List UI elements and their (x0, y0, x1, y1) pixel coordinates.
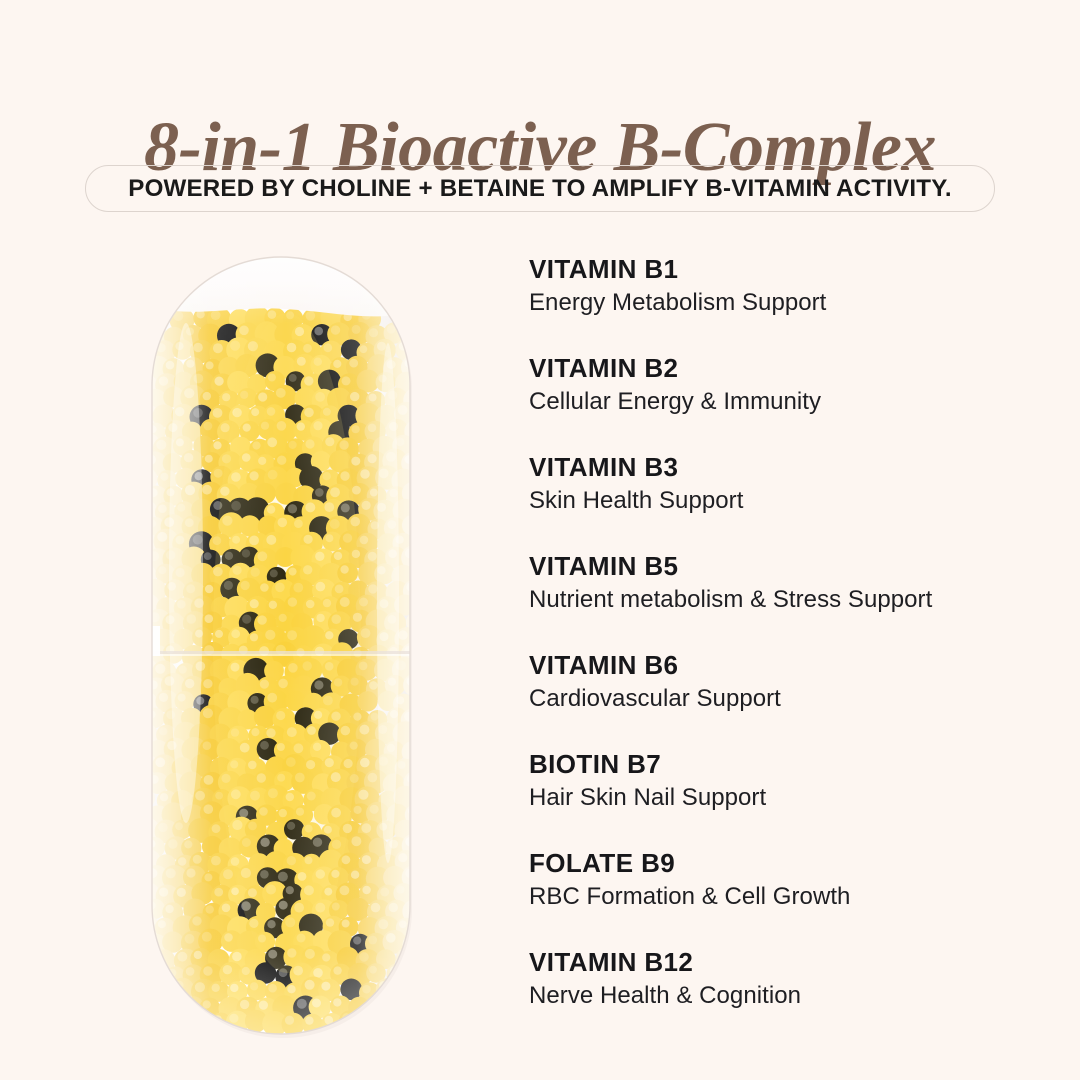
capsule-glass-highlight (138, 243, 434, 1048)
vitamin-item: VITAMIN B1 Energy Metabolism Support (529, 256, 1049, 355)
vitamin-description: Nerve Health & Cognition (529, 984, 1049, 1008)
vitamin-name: VITAMIN B2 (529, 355, 1049, 381)
vitamin-item: VITAMIN B6 Cardiovascular Support (529, 652, 1049, 751)
vitamin-description: Cardiovascular Support (529, 687, 1049, 711)
vitamin-item: FOLATE B9 RBC Formation & Cell Growth (529, 850, 1049, 949)
subtitle-text: POWERED BY CHOLINE + BETAINE TO AMPLIFY … (128, 175, 951, 203)
vitamin-name: BIOTIN B7 (529, 751, 1049, 777)
vitamin-description: Nutrient metabolism & Stress Support (529, 588, 1049, 612)
vitamin-item: VITAMIN B3 Skin Health Support (529, 454, 1049, 553)
vitamin-item: BIOTIN B7 Hair Skin Nail Support (529, 751, 1049, 850)
vitamin-item: VITAMIN B5 Nutrient metabolism & Stress … (529, 553, 1049, 652)
vitamin-name: VITAMIN B5 (529, 553, 1049, 579)
vitamin-description: Cellular Energy & Immunity (529, 390, 1049, 414)
vitamin-description: Hair Skin Nail Support (529, 786, 1049, 810)
infographic-root: 8-in-1 Bioactive B-Complex POWERED BY CH… (0, 0, 1080, 1080)
vitamin-description: RBC Formation & Cell Growth (529, 885, 1049, 909)
vitamin-list: VITAMIN B1 Energy Metabolism Support VIT… (529, 256, 1049, 1048)
subtitle-badge: POWERED BY CHOLINE + BETAINE TO AMPLIFY … (85, 165, 995, 212)
vitamin-item: VITAMIN B12 Nerve Health & Cognition (529, 949, 1049, 1048)
vitamin-item: VITAMIN B2 Cellular Energy & Immunity (529, 355, 1049, 454)
vitamin-name: VITAMIN B1 (529, 256, 1049, 282)
vitamin-name: VITAMIN B12 (529, 949, 1049, 975)
vitamin-name: VITAMIN B6 (529, 652, 1049, 678)
capsule-graphic (138, 243, 434, 1048)
vitamin-description: Energy Metabolism Support (529, 291, 1049, 315)
supplement-capsule-image (138, 243, 434, 1048)
vitamin-description: Skin Health Support (529, 489, 1049, 513)
vitamin-name: VITAMIN B3 (529, 454, 1049, 480)
vitamin-name: FOLATE B9 (529, 850, 1049, 876)
